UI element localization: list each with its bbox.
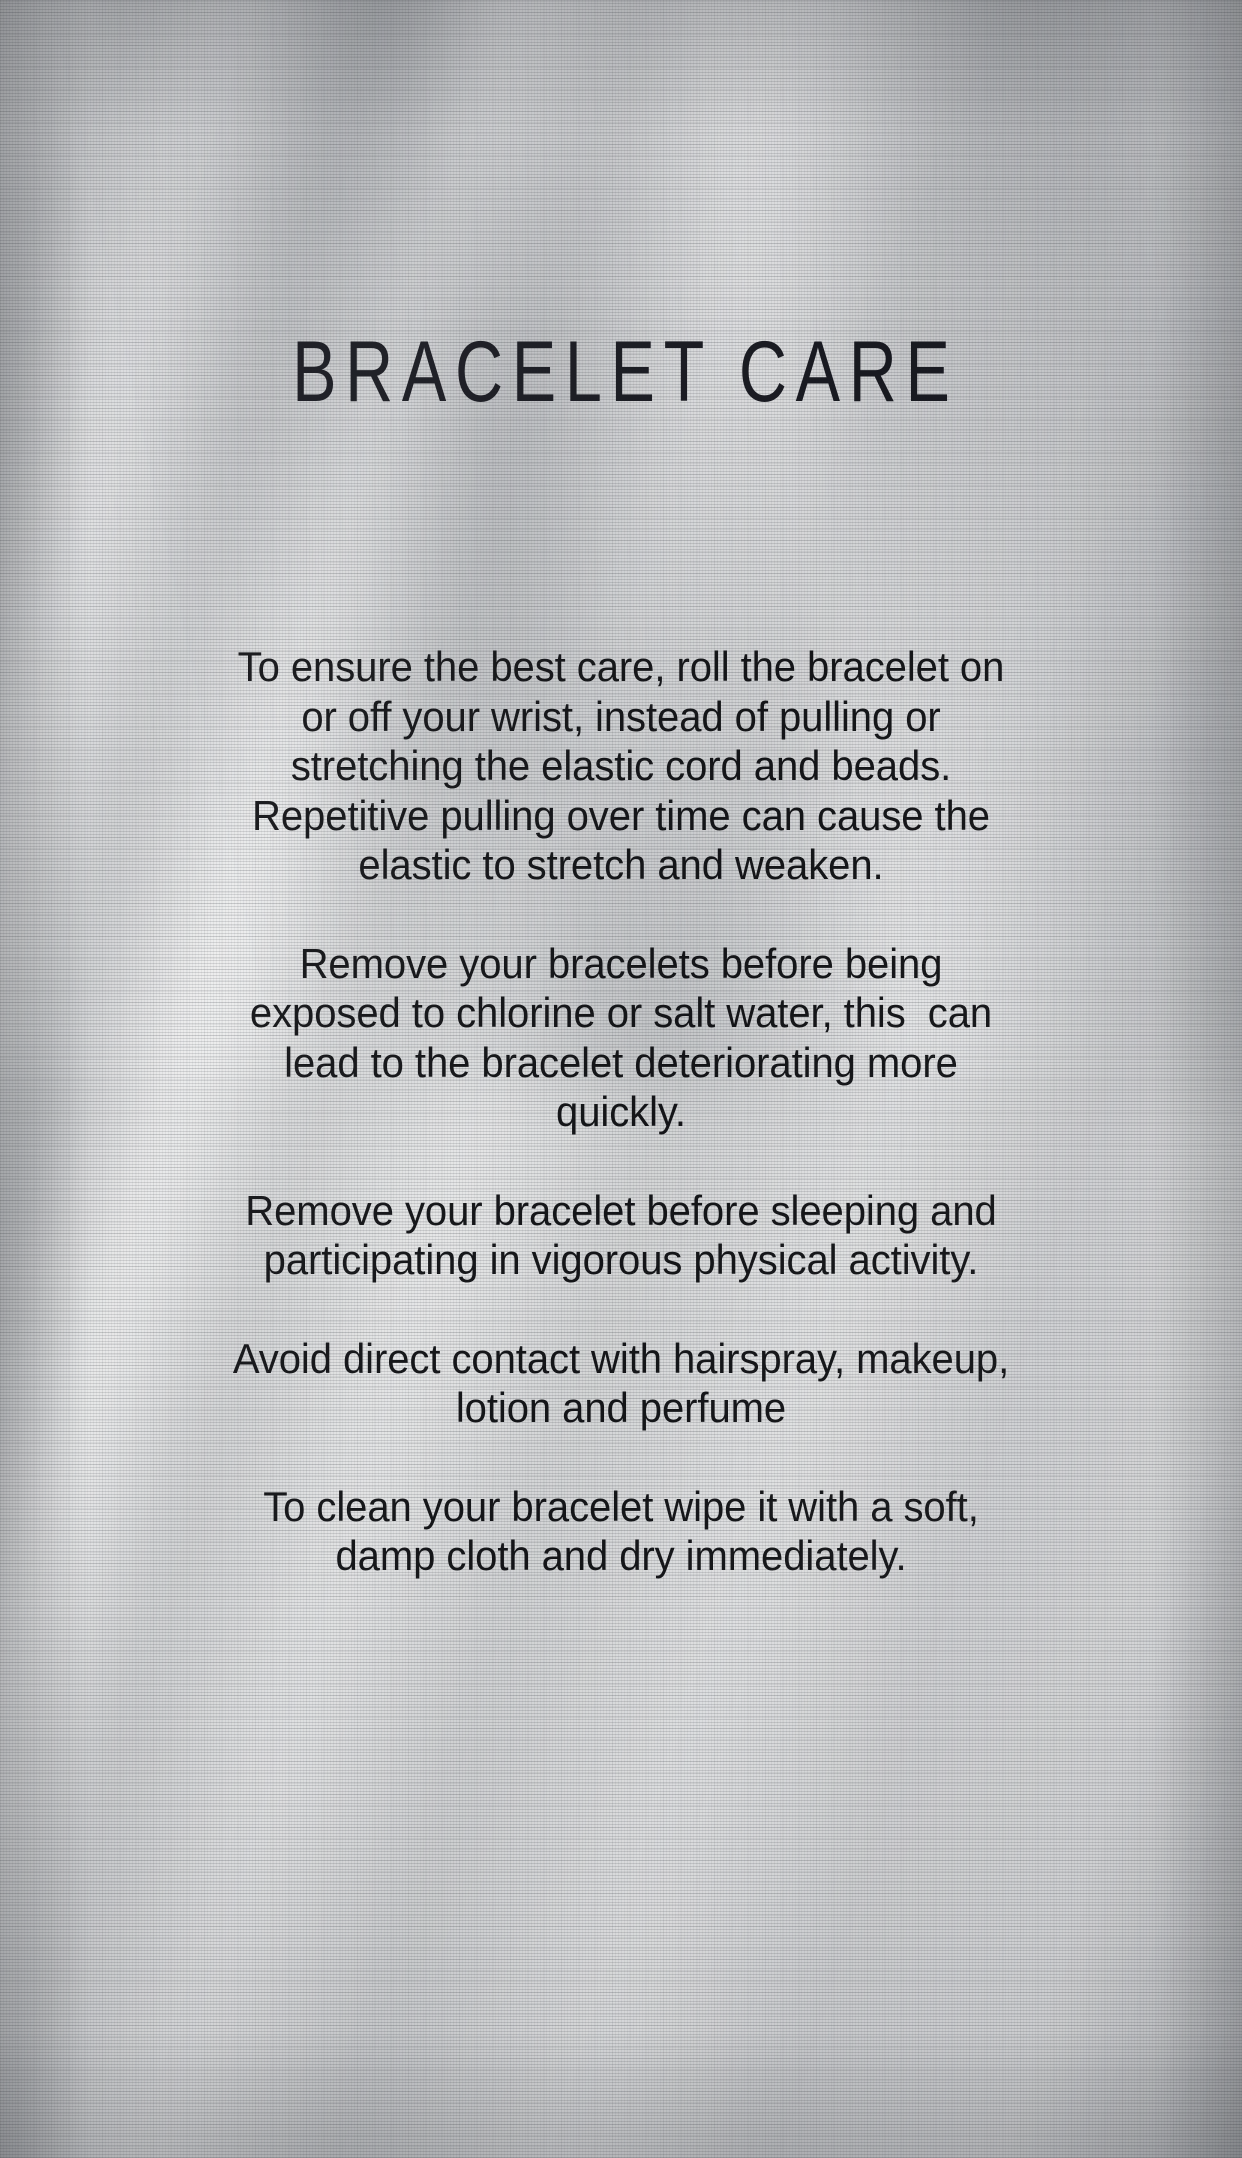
care-paragraph-2: Remove your bracelets before being expos… <box>221 939 1022 1137</box>
care-instructions: To ensure the best care, roll the bracel… <box>0 642 1242 1581</box>
card-content: BRACELET CARE To ensure the best care, r… <box>0 0 1242 2158</box>
care-paragraph-1: To ensure the best care, roll the bracel… <box>221 642 1022 890</box>
care-paragraph-3: Remove your bracelet before sleeping and… <box>221 1186 1022 1285</box>
page-title: BRACELET CARE <box>62 329 1180 415</box>
care-paragraph-5: To clean your bracelet wipe it with a so… <box>221 1482 1022 1581</box>
bracelet-care-card: BRACELET CARE To ensure the best care, r… <box>0 0 1242 2158</box>
care-paragraph-4: Avoid direct contact with hairspray, mak… <box>221 1334 1022 1433</box>
